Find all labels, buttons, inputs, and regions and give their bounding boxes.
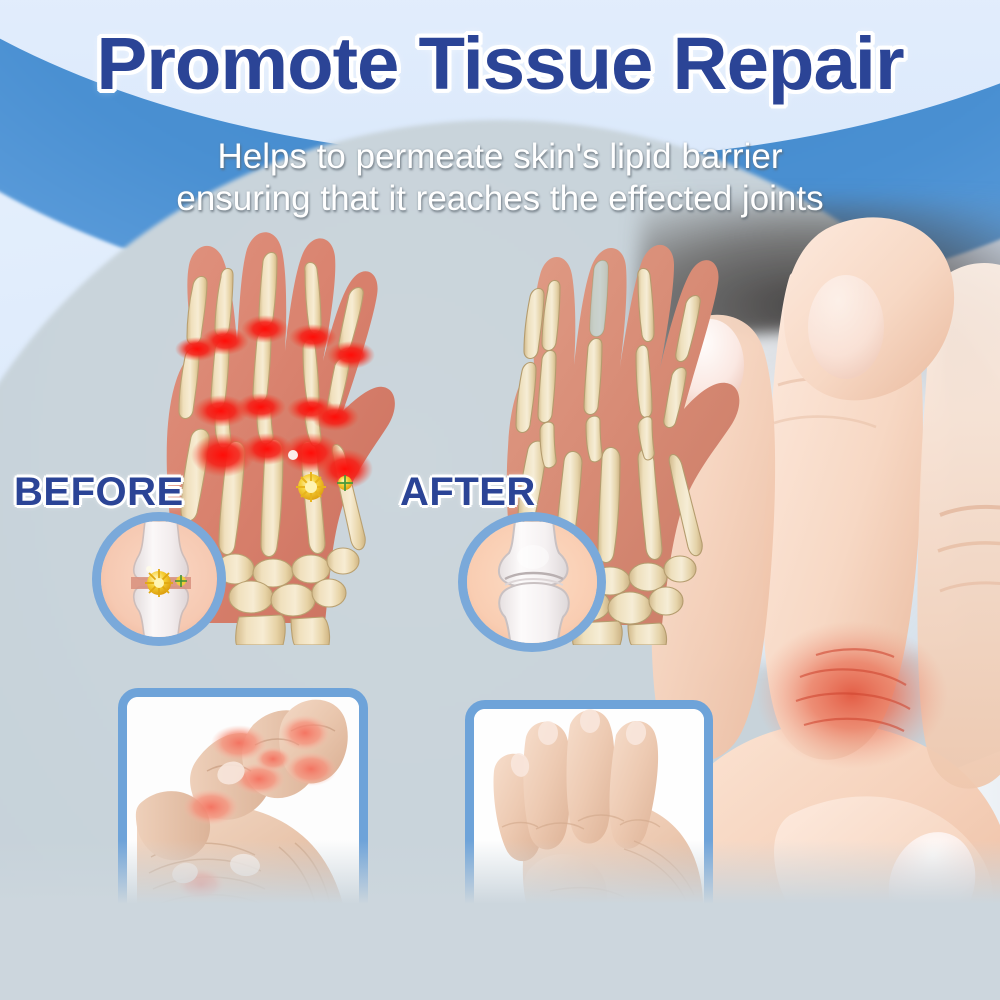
arthritic-hands-photo-frame	[118, 688, 368, 946]
after-label: AFTER	[400, 470, 536, 515]
before-label: BEFORE	[14, 470, 184, 515]
subtitle-line-1: Helps to permeate skin's lipid barrier	[0, 136, 1000, 178]
healthy-hand-photo	[474, 709, 704, 936]
infographic-canvas: Promote Tissue Repair Helps to permeate …	[0, 0, 1000, 1000]
before-joint-detail-circle	[92, 512, 226, 646]
arthritic-hands-photo	[127, 697, 359, 937]
page-title: Promote Tissue Repair	[0, 22, 1000, 106]
healthy-hand-photo-frame	[465, 700, 713, 945]
subtitle-line-2: ensuring that it reaches the effected jo…	[0, 178, 1000, 220]
after-joint-detail-circle	[458, 512, 606, 652]
